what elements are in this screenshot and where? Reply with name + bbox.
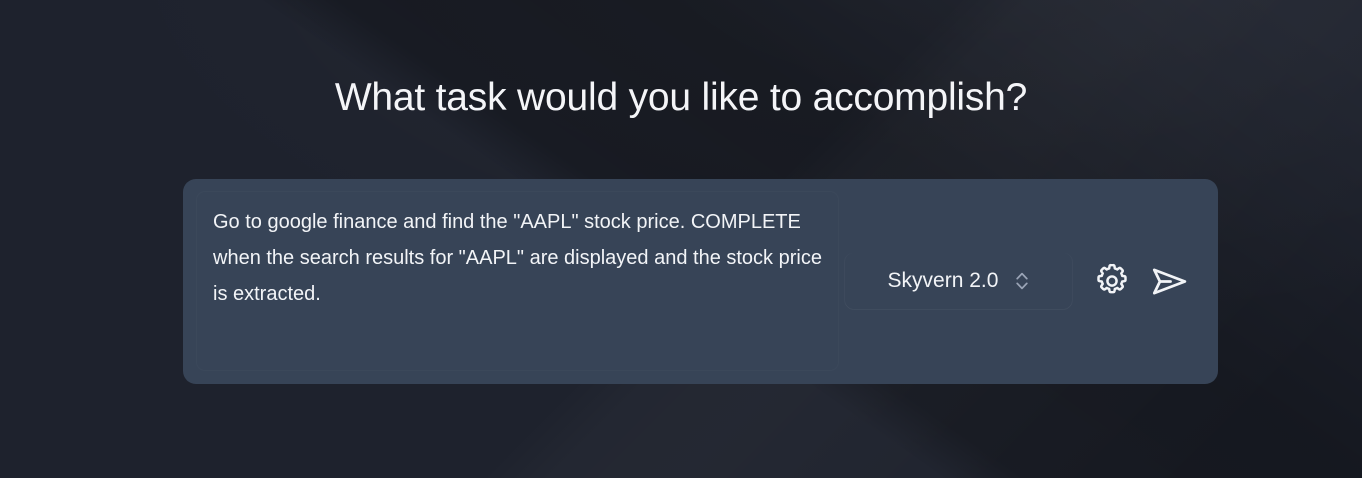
page-title: What task would you like to accomplish? <box>0 72 1362 124</box>
model-select-value: Skyvern 2.0 <box>888 268 999 294</box>
task-prompt-input[interactable] <box>196 191 839 371</box>
send-icon <box>1149 261 1190 302</box>
gear-icon <box>1094 263 1130 299</box>
prompt-controls: Skyvern 2.0 <box>845 239 1194 323</box>
page-root: What task would you like to accomplish? … <box>0 0 1362 478</box>
model-select[interactable]: Skyvern 2.0 <box>845 253 1072 309</box>
settings-button[interactable] <box>1087 256 1137 306</box>
prompt-card: Skyvern 2.0 <box>183 179 1218 384</box>
chevron-up-down-icon <box>1015 271 1029 291</box>
send-button[interactable] <box>1144 256 1194 306</box>
